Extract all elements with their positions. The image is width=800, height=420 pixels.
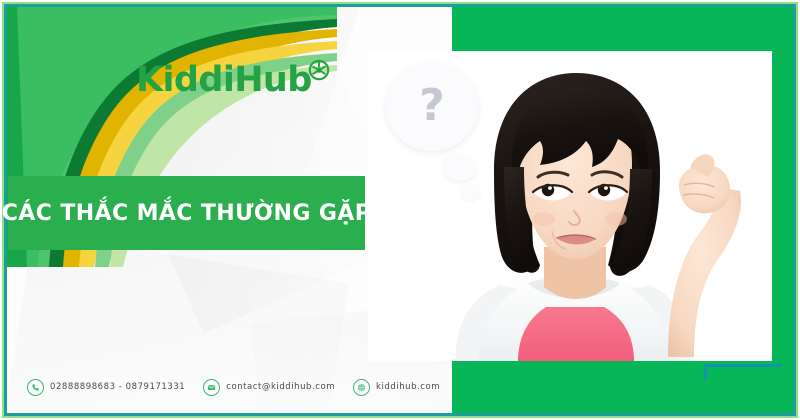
globe-ball-icon — [307, 58, 331, 87]
globe-icon — [353, 379, 370, 396]
slide-canvas: KiddiHub CÁC THẮC MẮC THƯỜNG GẶP ? — [0, 0, 800, 420]
blue-accent-corner — [704, 364, 782, 380]
footer-item-website[interactable]: kiddihub.com — [353, 379, 440, 396]
phone-icon — [27, 379, 44, 396]
right-green-rail — [772, 7, 793, 413]
kiddihub-logo[interactable]: KiddiHub — [136, 63, 331, 98]
top-right-green-panel — [452, 7, 793, 51]
footer-contact-bar: 02888898683 - 0879171331 contact@kiddihu… — [7, 361, 452, 413]
logo-wordmark: KiddiHub — [136, 63, 312, 98]
footer-website-text: kiddihub.com — [376, 382, 440, 392]
page-title-banner: CÁC THẮC MẮC THƯỜNG GẶP — [8, 176, 365, 250]
footer-item-email[interactable]: contact@kiddihub.com — [203, 379, 335, 396]
illustration-photo-block: ? — [368, 51, 772, 361]
envelope-icon — [203, 379, 220, 396]
footer-item-phone[interactable]: 02888898683 - 0879171331 — [27, 379, 185, 396]
footer-email-text: contact@kiddihub.com — [226, 382, 335, 392]
page-title: CÁC THẮC MẮC THƯỜNG GẶP — [2, 201, 372, 226]
footer-phone-text: 02888898683 - 0879171331 — [50, 382, 185, 392]
